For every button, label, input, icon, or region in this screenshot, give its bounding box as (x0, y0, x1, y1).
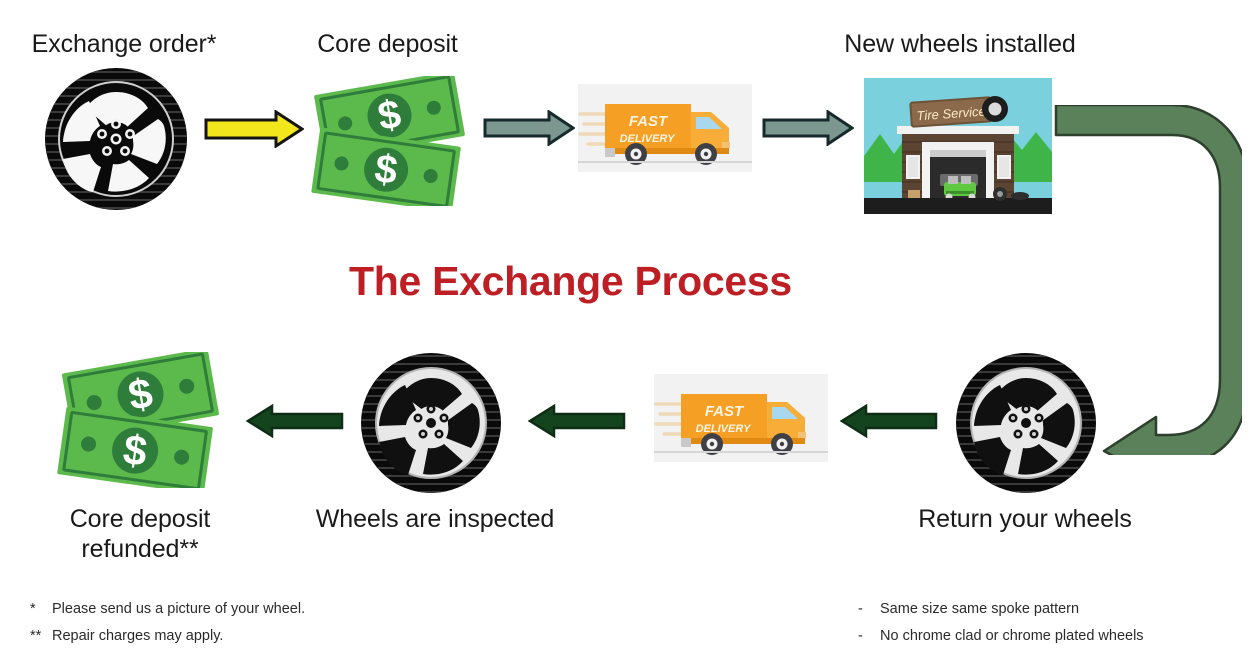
step-label-new-wheels-installed: New wheels installed (815, 30, 1105, 60)
note-text: Repair charges may apply. (52, 623, 223, 650)
note-text: No chrome clad or chrome plated wheels (880, 623, 1144, 650)
note-marker: - (858, 623, 880, 650)
arrow-inspect-to-refund (246, 403, 344, 439)
arrow-truck-to-inspect (528, 403, 626, 439)
note-left-0: * Please send us a picture of your wheel… (30, 596, 305, 623)
tire-service-shop-icon: Tire Service (864, 78, 1052, 214)
delivery-truck-icon: FAST DELIVERY (578, 84, 752, 172)
notes-left: * Please send us a picture of your wheel… (30, 596, 305, 650)
arrow-return-to-truck (840, 403, 938, 439)
refund-label-line-2: refunded** (81, 535, 198, 563)
step-label-core-deposit: Core deposit (295, 30, 480, 60)
arrow-deposit-to-truck (483, 110, 575, 146)
note-text: Please send us a picture of your wheel. (52, 596, 305, 623)
truck-text-fast: FAST (705, 403, 745, 420)
notes-right: - Same size same spoke pattern - No chro… (858, 596, 1144, 650)
alloy-wheel-icon-inspected (355, 352, 507, 494)
delivery-truck-icon-return: FAST DELIVERY (654, 374, 828, 462)
arrow-truck-to-shop (762, 110, 854, 146)
note-right-0: - Same size same spoke pattern (858, 596, 1144, 623)
cash-money-icon: $ $ (309, 76, 481, 206)
note-marker: ** (30, 623, 52, 650)
cash-money-icon-refund: $ $ (55, 352, 235, 488)
truck-text-fast: FAST (629, 113, 669, 130)
alloy-wheel-icon-return (950, 352, 1102, 494)
page-title: The Exchange Process (349, 258, 792, 305)
truck-text-delivery: DELIVERY (620, 133, 676, 145)
note-right-1: - No chrome clad or chrome plated wheels (858, 623, 1144, 650)
note-text: Same size same spoke pattern (880, 596, 1079, 623)
exchange-process-diagram: Exchange order* Core deposit New wheels … (0, 0, 1250, 666)
truck-text-delivery: DELIVERY (696, 423, 752, 435)
note-left-1: ** Repair charges may apply. (30, 623, 305, 650)
refund-label-line-1: Core deposit (70, 505, 211, 533)
arrow-order-to-deposit (204, 110, 304, 148)
step-label-core-deposit-refunded: Core deposit refunded** (40, 505, 240, 564)
note-marker: - (858, 596, 880, 623)
note-marker: * (30, 596, 52, 623)
alloy-wheel-icon (38, 68, 194, 210)
step-label-exchange-order: Exchange order* (14, 30, 234, 60)
step-label-wheels-are-inspected: Wheels are inspected (305, 505, 565, 535)
step-label-return-your-wheels: Return your wheels (905, 505, 1145, 535)
